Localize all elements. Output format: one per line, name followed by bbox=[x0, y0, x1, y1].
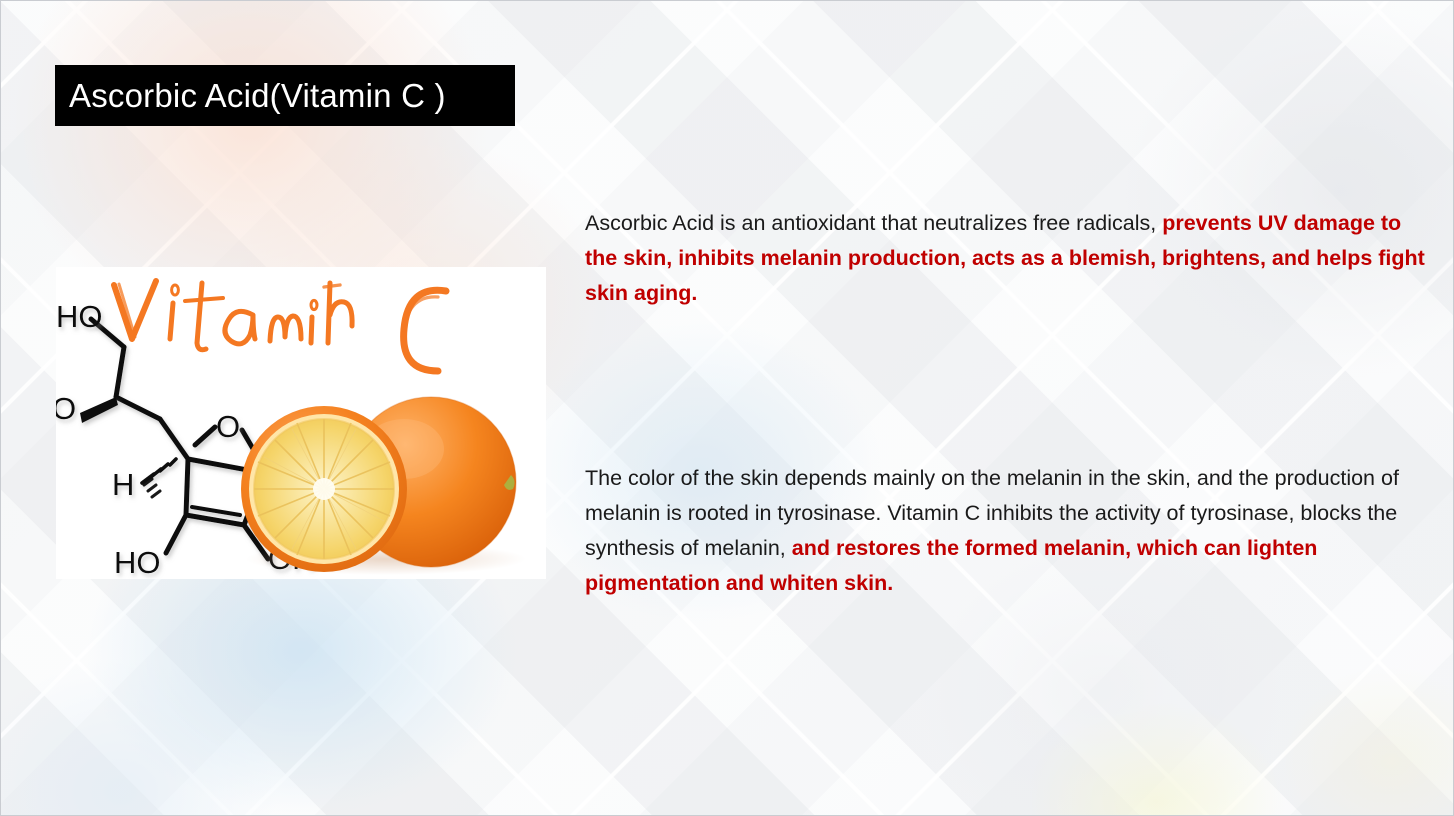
paragraph-1-plain-text: Ascorbic Acid is an antioxidant that neu… bbox=[585, 211, 1162, 235]
molecule-label-ho-top: HO bbox=[56, 299, 103, 334]
body-paragraph-2: The color of the skin depends mainly on … bbox=[585, 461, 1431, 601]
page-title: Ascorbic Acid(Vitamin C ) bbox=[69, 79, 446, 112]
vitamin-c-illustration: HO O O O H HO OH bbox=[56, 267, 546, 579]
molecule-label-h: H bbox=[112, 467, 134, 502]
molecule-label-o-left: O bbox=[56, 391, 76, 426]
vitamin-c-illustration-graphic: HO O O O H HO OH bbox=[56, 267, 546, 579]
title-banner: Ascorbic Acid(Vitamin C ) bbox=[55, 65, 515, 126]
body-paragraph-1: Ascorbic Acid is an antioxidant that neu… bbox=[585, 206, 1431, 311]
molecule-label-ho-bottom: HO bbox=[114, 545, 161, 579]
orange-core bbox=[313, 478, 335, 500]
presentation-slide: Ascorbic Acid(Vitamin C ) bbox=[0, 0, 1454, 816]
molecule-label-o-ring: O bbox=[216, 409, 240, 444]
halved-orange bbox=[241, 406, 407, 572]
